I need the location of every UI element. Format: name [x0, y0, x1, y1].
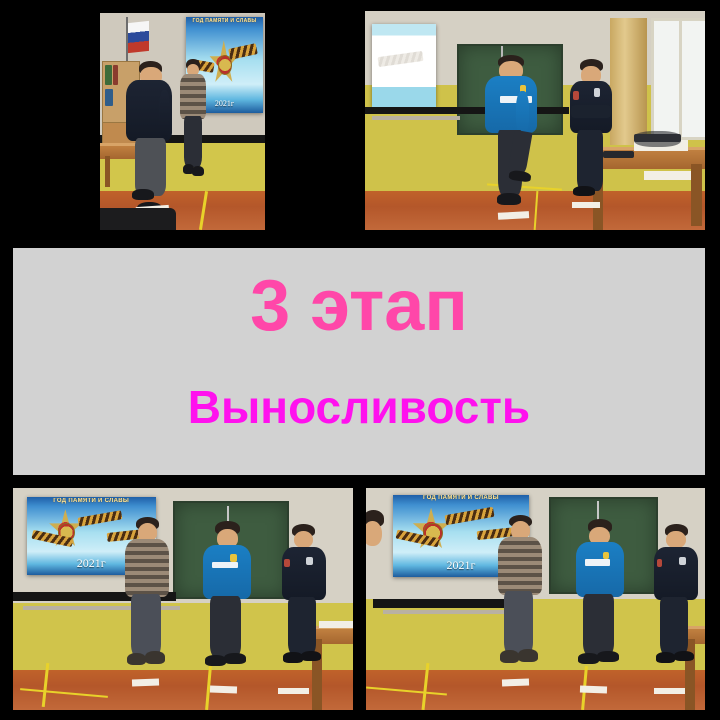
shoe — [205, 655, 226, 666]
gym-bench — [100, 208, 176, 230]
torso — [576, 542, 623, 596]
arms-folded — [571, 105, 612, 118]
slide-title: ГОД ПАМЯТИ И СЛАВЫ — [189, 18, 260, 24]
book — [113, 65, 118, 85]
curtain — [610, 18, 647, 145]
floor-paper-marker — [132, 678, 159, 686]
team-logo-patch-icon — [603, 552, 610, 560]
floor-paper-marker — [210, 685, 237, 693]
person-foreground-navy — [120, 61, 183, 222]
shoe — [497, 193, 521, 205]
board-trim — [365, 107, 569, 114]
st-george-ribbon-icon — [228, 43, 258, 60]
shoe — [518, 649, 538, 662]
torso — [282, 547, 326, 600]
slide-graphic-icon — [378, 51, 424, 67]
legs — [577, 130, 604, 191]
chalk-tray — [372, 116, 460, 120]
book — [105, 89, 113, 106]
shoe — [656, 652, 675, 662]
shoe — [127, 653, 146, 666]
shoe — [674, 651, 694, 661]
shoe — [283, 652, 302, 662]
head — [294, 531, 313, 549]
photo-bottom-right: ГОД ПАМЯТИ И СЛАВЫ 2021г — [366, 488, 705, 710]
legs — [210, 596, 241, 658]
legs — [583, 594, 614, 656]
photo-bottom-left: ГОД ПАМЯТИ И СЛАВЫ 2021г — [13, 488, 353, 710]
torso — [203, 545, 251, 599]
projector-screen — [372, 24, 437, 107]
board-trim — [373, 599, 515, 608]
person-striped-shirt — [125, 517, 169, 677]
sleeve-patch-icon — [657, 559, 662, 568]
russian-flag — [128, 21, 149, 54]
window — [651, 18, 705, 140]
legs — [131, 594, 160, 658]
torso — [180, 74, 206, 119]
person-dark-tracksuit — [282, 524, 326, 671]
shoe — [132, 189, 153, 200]
shoe — [578, 653, 599, 664]
person-dark-observer — [569, 59, 613, 204]
shoe — [573, 186, 594, 196]
floor-paper-marker — [654, 688, 685, 695]
person-striped-shirt — [498, 515, 542, 675]
person-dark-tracksuit — [654, 524, 698, 671]
title-line-1: 3 этап — [250, 270, 468, 342]
chest-logo-icon — [306, 557, 313, 564]
legs — [288, 597, 316, 656]
arm — [516, 91, 529, 134]
legs — [504, 591, 533, 655]
legs — [660, 597, 688, 656]
floor-paper-marker — [572, 202, 599, 209]
shoe — [145, 651, 165, 664]
chest-logo-icon — [679, 557, 686, 564]
person-partial-left-edge — [366, 510, 386, 559]
person-blue-balancing — [484, 55, 538, 221]
desk-leg — [691, 164, 701, 225]
legs — [135, 138, 166, 196]
legs — [184, 116, 202, 166]
desk-leg — [105, 156, 110, 186]
team-logo-patch-icon — [230, 554, 237, 562]
classroom-scene-top-right — [365, 11, 705, 230]
photo-top-right — [365, 11, 705, 230]
head — [666, 531, 685, 549]
floor-paper-marker — [579, 685, 606, 693]
shoe — [301, 651, 321, 661]
shoe — [224, 653, 246, 664]
st-george-ribbon-icon — [78, 510, 123, 527]
torso — [654, 547, 698, 600]
slide-blank — [372, 24, 437, 107]
slide-title: ГОД ПАМЯТИ И СЛАВЫ — [399, 495, 524, 501]
desk-papers — [644, 171, 692, 180]
title-line-2: Выносливость — [188, 384, 530, 430]
shoe — [500, 650, 519, 663]
book — [105, 65, 112, 85]
slide-title: ГОД ПАМЯТИ И СЛАВЫ — [32, 498, 151, 504]
classroom-scene-top-left: ГОД ПАМЯТИ И СЛАВЫ 2021г — [100, 13, 265, 230]
chest-stripe — [585, 559, 611, 565]
head — [366, 521, 382, 546]
person-blue-jersey — [203, 521, 251, 676]
torso — [125, 539, 169, 597]
st-george-ribbon-icon — [444, 507, 494, 525]
torso — [498, 537, 542, 595]
sleeve-patch-icon — [573, 91, 578, 100]
floor-paper-marker — [278, 688, 309, 695]
arm — [159, 90, 170, 138]
shoe — [597, 651, 619, 662]
person-blue-jersey — [576, 519, 623, 674]
chest-logo-icon — [594, 88, 600, 97]
collage-canvas: ГОД ПАМЯТИ И СЛАВЫ 2021г — [0, 0, 720, 720]
classroom-scene-bottom-right: ГОД ПАМЯТИ И СЛАВЫ 2021г — [366, 488, 705, 710]
photo-top-left: ГОД ПАМЯТИ И СЛАВЫ 2021г — [100, 13, 265, 230]
chair-back — [634, 131, 682, 146]
floor-paper-marker — [501, 678, 528, 686]
shoe — [192, 166, 204, 176]
classroom-scene-bottom-left: ГОД ПАМЯТИ И СЛАВЫ 2021г — [13, 488, 353, 710]
sleeve-patch-icon — [284, 559, 289, 568]
chest-stripe — [212, 562, 238, 568]
torso — [485, 76, 537, 133]
title-band: 3 этап Выносливость — [13, 248, 705, 475]
